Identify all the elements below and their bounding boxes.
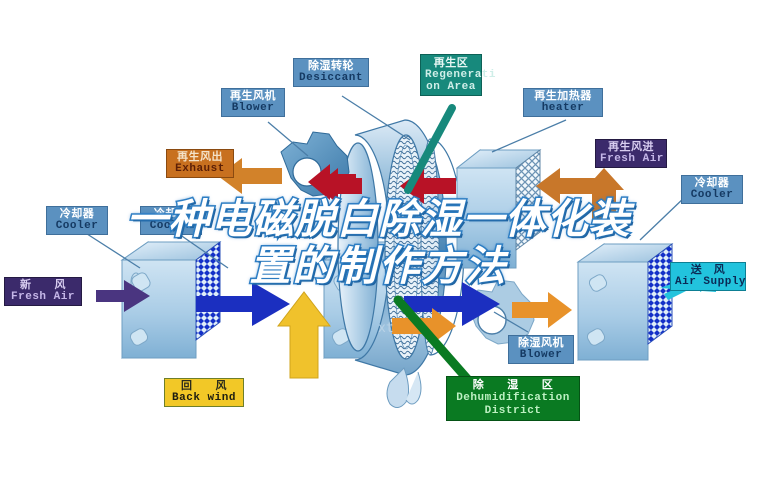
callout-dehum-blower[interactable]: 除湿风机 Blower xyxy=(508,335,574,364)
callout-cooler-left-2-cn: 冷却器 xyxy=(145,209,197,221)
callout-regen-blower[interactable]: 再生风机 Blower xyxy=(221,88,285,117)
callout-cooler-left-2[interactable]: 冷却器 Cooler xyxy=(140,206,202,235)
callout-fresh-air-cn: 新 风 xyxy=(9,280,77,292)
callout-air-supply[interactable]: 送 风 Air Supply xyxy=(670,262,746,291)
callout-cooler-left-2-en: Cooler xyxy=(145,221,197,233)
callout-cooler-right-en: Cooler xyxy=(686,190,738,202)
callout-cooler-left-1-en: Cooler xyxy=(51,221,103,233)
callout-fresh-air-en: Fresh Air xyxy=(9,292,77,304)
callout-air-supply-cn: 送 风 xyxy=(675,265,741,277)
callout-air-supply-en: Air Supply xyxy=(675,277,741,289)
callout-dehum-district[interactable]: 除 湿 区 Dehumidification District xyxy=(446,376,580,421)
callout-desiccant-en: Desiccant xyxy=(298,73,364,85)
callout-regen-fresh-air-cn: 再生风进 xyxy=(600,142,662,154)
callout-exhaust[interactable]: 再生风出 Exhaust xyxy=(166,149,234,178)
callout-regen-area-cn: 再生区 xyxy=(425,57,477,69)
callout-dehum-blower-en: Blower xyxy=(513,350,569,362)
callout-dehum-blower-cn: 除湿风机 xyxy=(513,338,569,350)
callout-cooler-left-1[interactable]: 冷却器 Cooler xyxy=(46,206,108,235)
callout-exhaust-cn: 再生风出 xyxy=(171,152,229,164)
callout-regen-area[interactable]: 再生区 Regenerati on Area xyxy=(420,54,482,96)
callout-back-wind-en: Back wind xyxy=(169,393,239,405)
watermark-text: xt xyxy=(378,321,394,336)
callout-back-wind[interactable]: 回 风 Back wind xyxy=(164,378,244,407)
callout-regen-heater-en: heater xyxy=(528,103,598,115)
callout-desiccant-cn: 除湿转轮 xyxy=(298,61,364,73)
diagram-canvas: xt 除湿转轮 Desiccant 再生风机 Blower 再生区 Regene… xyxy=(0,0,757,488)
callout-exhaust-en: Exhaust xyxy=(171,164,229,176)
callout-regen-fresh-air[interactable]: 再生风进 Fresh Air xyxy=(595,139,667,168)
callout-dehum-district-en1: Dehumidification xyxy=(451,392,575,405)
callout-cooler-right-cn: 冷却器 xyxy=(686,178,738,190)
callout-cooler-right[interactable]: 冷却器 Cooler xyxy=(681,175,743,204)
callout-fresh-air[interactable]: 新 风 Fresh Air xyxy=(4,277,82,306)
callout-regen-area-en1: Regenerati xyxy=(425,69,477,81)
callout-dehum-district-en2: District xyxy=(451,405,575,418)
desiccant-rotor xyxy=(338,120,464,408)
callout-regen-heater[interactable]: 再生加热器 heater xyxy=(523,88,603,117)
callout-regen-blower-en: Blower xyxy=(226,103,280,115)
callout-cooler-left-1-cn: 冷却器 xyxy=(51,209,103,221)
process-flow-illustration: xt xyxy=(0,0,757,488)
callout-dehum-district-cn: 除 湿 区 xyxy=(451,379,575,392)
callout-back-wind-cn: 回 风 xyxy=(169,381,239,393)
callout-desiccant[interactable]: 除湿转轮 Desiccant xyxy=(293,58,369,87)
callout-regen-fresh-air-en: Fresh Air xyxy=(600,154,662,166)
callout-regen-area-en2: on Area xyxy=(425,81,477,93)
callout-regen-blower-cn: 再生风机 xyxy=(226,91,280,103)
callout-regen-heater-cn: 再生加热器 xyxy=(528,91,598,103)
supply-filter-unit xyxy=(578,244,672,360)
regen-heater-unit xyxy=(457,150,540,268)
